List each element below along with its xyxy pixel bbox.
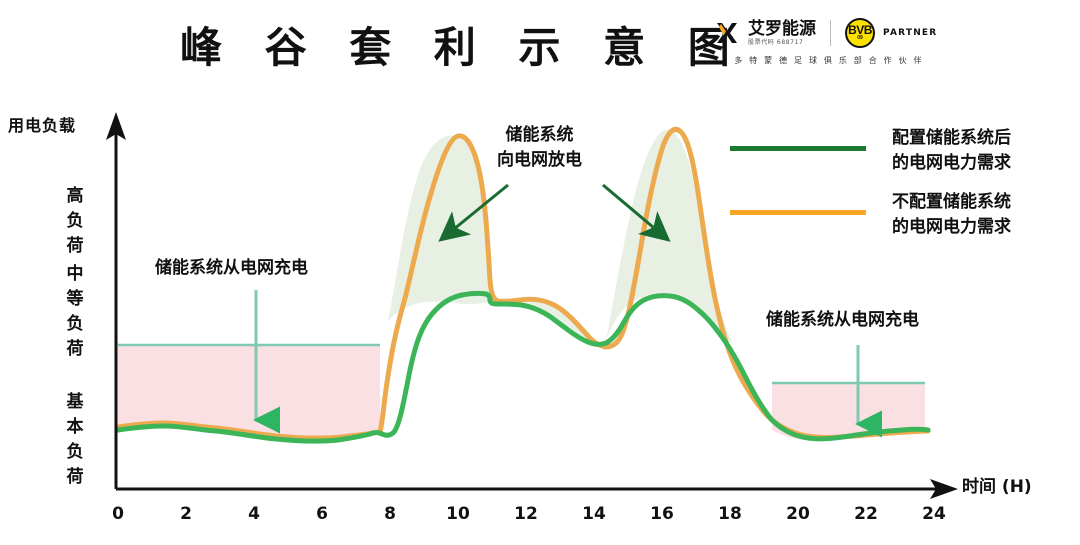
annotation-discharge: 储能系统 向电网放电 [497,123,582,173]
legend-label-without-storage-line2: 的电网电力需求 [892,217,1011,237]
x-tick-6: 6 [302,504,342,524]
legend-swatch-without-storage [730,210,866,215]
x-tick-24: 24 [914,504,954,524]
x-tick-20: 20 [778,504,818,524]
discharge-region-peak-2 [606,130,733,343]
legend-item-with-storage[interactable]: 配置储能系统后 的电网电力需求 [730,126,1011,176]
annotation-discharge-line2: 向电网放电 [497,148,582,173]
x-tick-18: 18 [710,504,750,524]
x-tick-10: 10 [438,504,478,524]
x-tick-12: 12 [506,504,546,524]
annotation-charge-left: 储能系统从电网充电 [155,256,308,281]
legend-label-with-storage-line1: 配置储能系统后 [892,128,1011,148]
x-tick-4: 4 [234,504,274,524]
legend-label-with-storage-line2: 的电网电力需求 [892,153,1011,173]
legend-label-with-storage: 配置储能系统后 的电网电力需求 [892,126,1011,176]
x-tick-0: 0 [98,504,138,524]
legend-label-without-storage: 不配置储能系统 的电网电力需求 [892,190,1011,240]
annotation-discharge-line1: 储能系统 [497,123,582,148]
legend-label-without-storage-line1: 不配置储能系统 [892,192,1011,212]
x-tick-8: 8 [370,504,410,524]
legend-swatch-with-storage [730,146,866,151]
annotation-charge-right: 储能系统从电网充电 [766,308,919,333]
legend-item-without-storage[interactable]: 不配置储能系统 的电网电力需求 [730,190,1011,240]
x-tick-22: 22 [846,504,886,524]
x-tick-16: 16 [642,504,682,524]
x-tick-14: 14 [574,504,614,524]
chart-page: 峰 谷 套 利 示 意 图 艾罗能源 股票代码 688717 BVB 09 PA… [0,0,1080,545]
x-tick-2: 2 [166,504,206,524]
